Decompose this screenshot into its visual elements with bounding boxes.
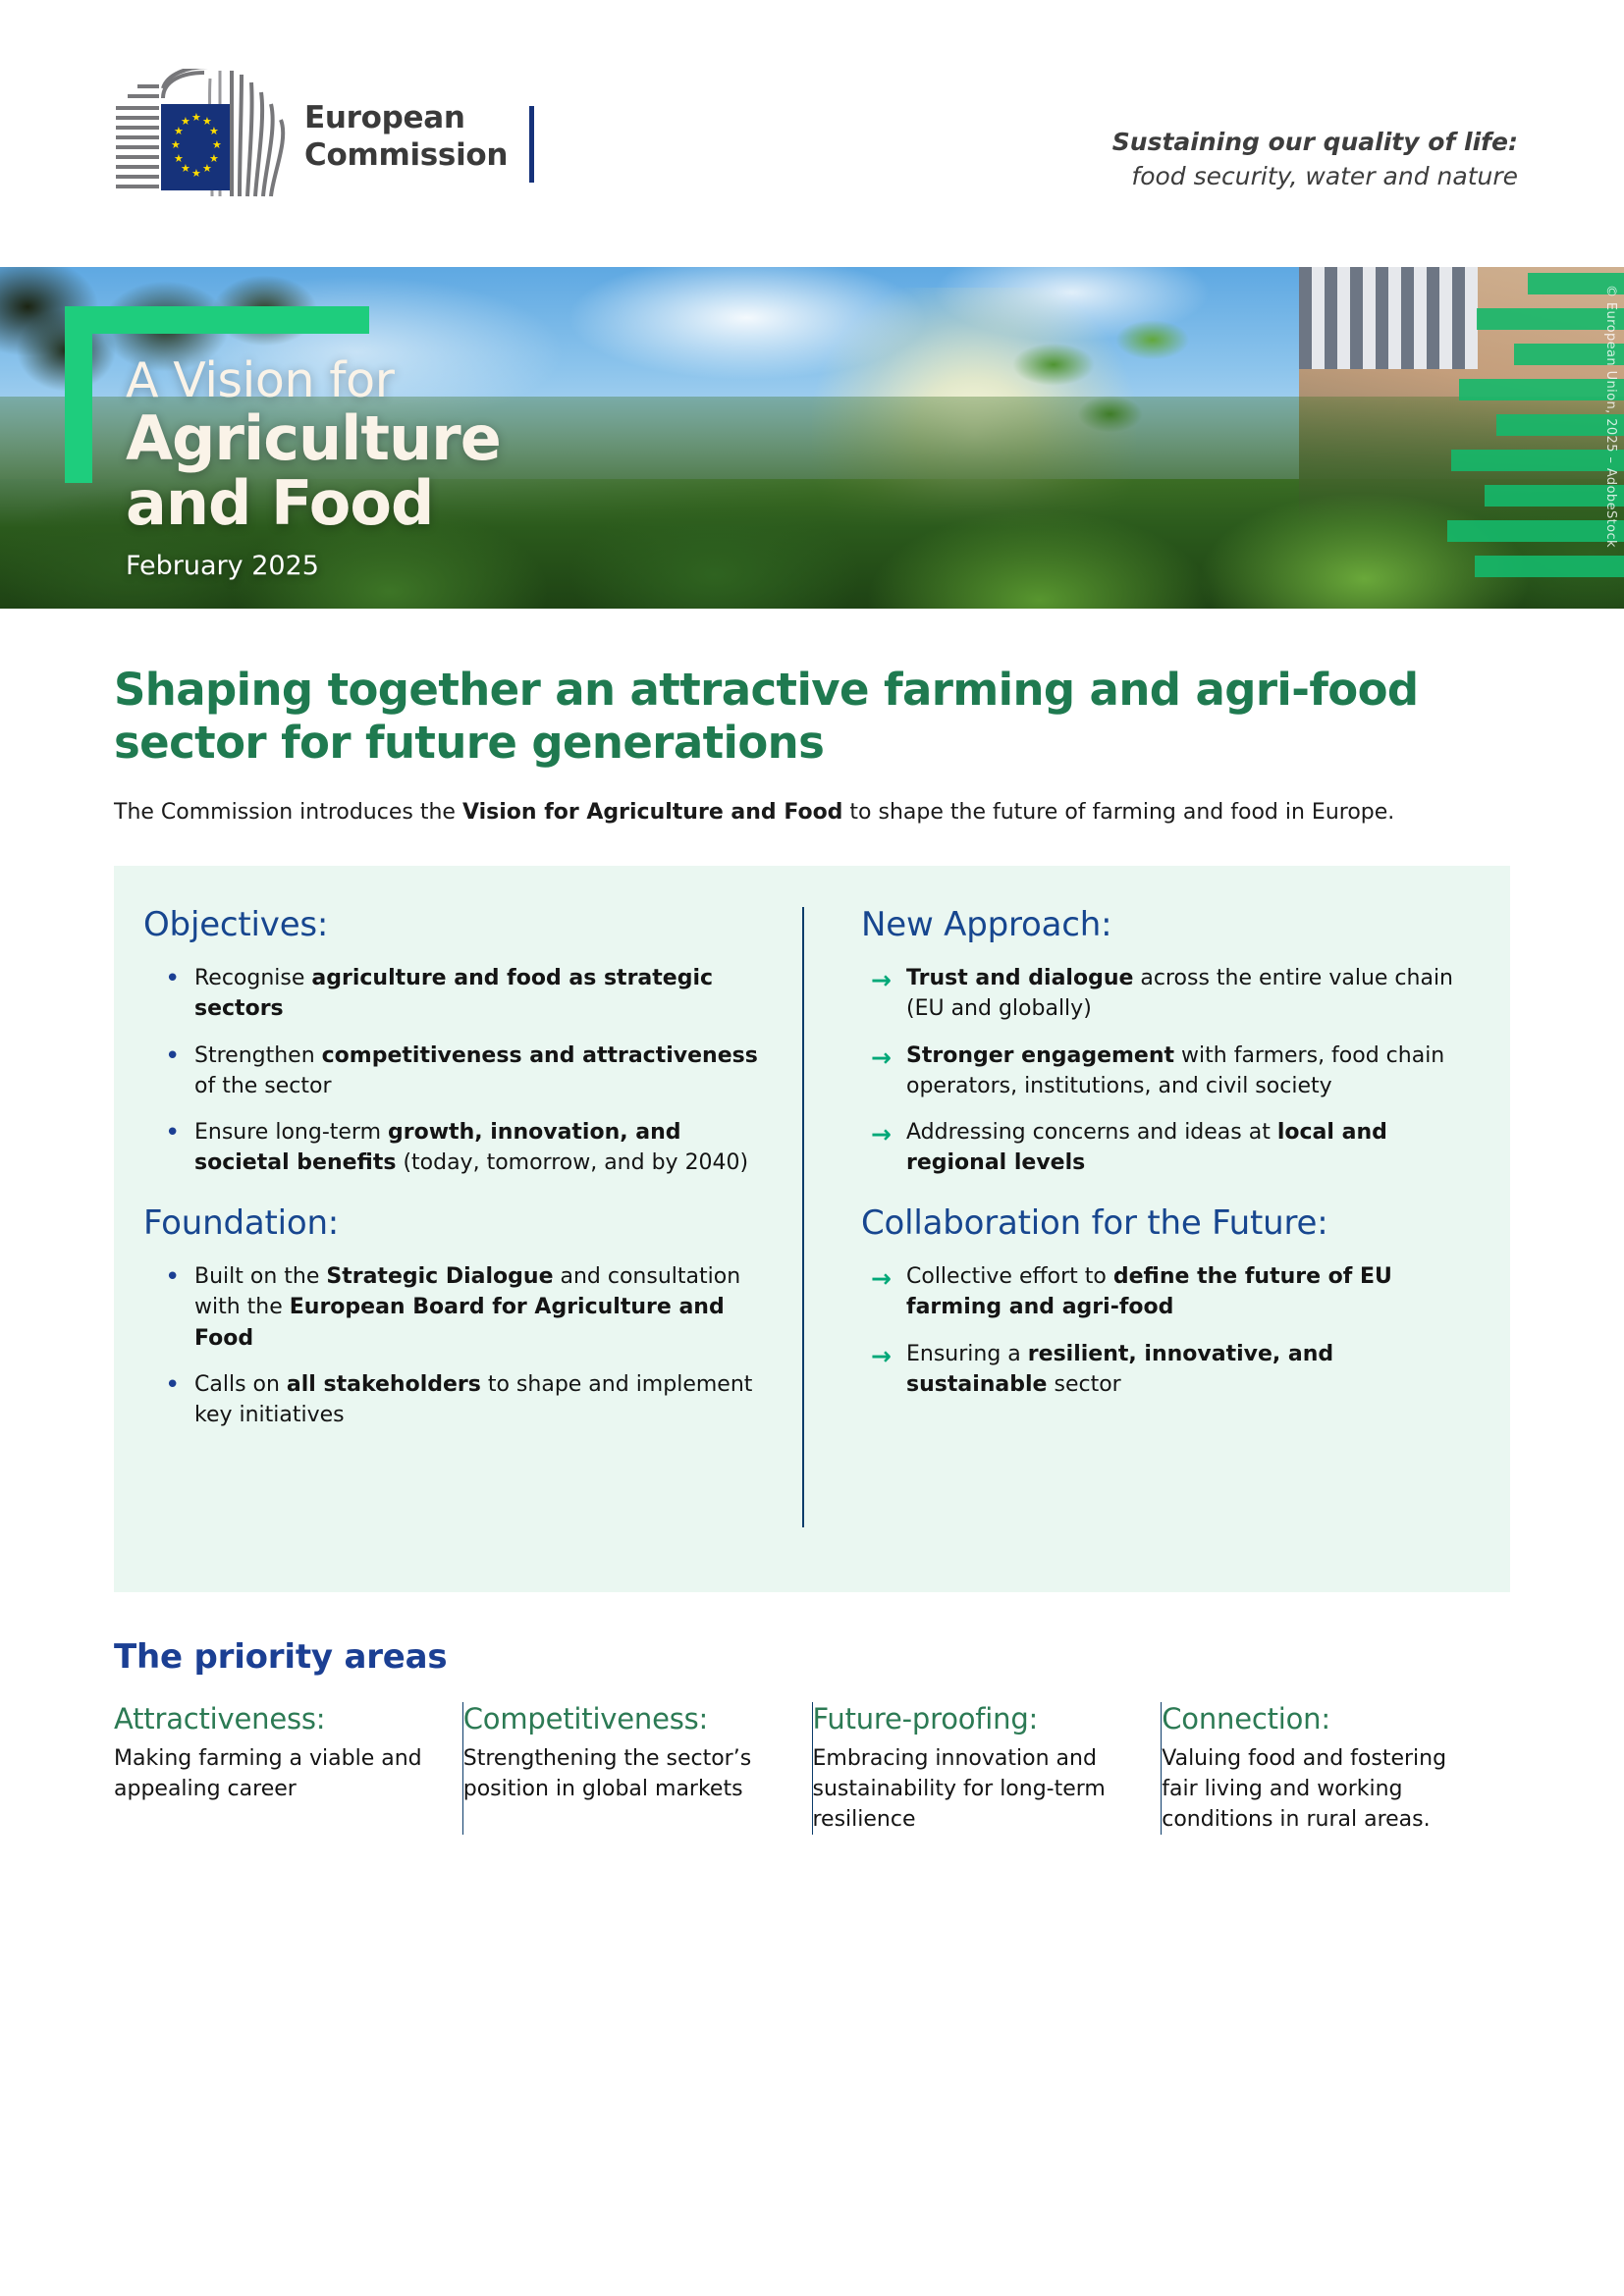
priority-column-title: Attractiveness:: [114, 1702, 429, 1736]
wordmark-line-commission: Commission: [304, 137, 508, 175]
priority-column: Competitiveness:Strengthening the sector…: [463, 1702, 812, 1835]
priority-column: Future-proofing:Embracing innovation and…: [813, 1702, 1162, 1835]
page-header: ★ ★ ★ ★ ★ ★ ★ ★ ★ ★ ★ ★ European Commiss…: [0, 0, 1624, 267]
hero-banner: A Vision for Agriculture and Food Februa…: [0, 267, 1624, 609]
hero-title-line-3: and Food: [126, 471, 501, 536]
list-item: Stronger engagement with farmers, food c…: [861, 1041, 1477, 1101]
intro-text-after: to shape the future of farming and food …: [842, 800, 1394, 825]
priority-column: Connection:Valuing food and fostering fa…: [1162, 1702, 1510, 1835]
section-list: Built on the Strategic Dialogue and cons…: [143, 1261, 759, 1430]
eu-flag: ★ ★ ★ ★ ★ ★ ★ ★ ★ ★ ★ ★: [161, 104, 230, 190]
hero-title-line-1: A Vision for: [126, 355, 501, 406]
section-list: Trust and dialogue across the entire val…: [861, 963, 1477, 1178]
intro-text-before: The Commission introduces the: [114, 800, 462, 825]
eu-emblem: ★ ★ ★ ★ ★ ★ ★ ★ ★ ★ ★ ★: [114, 69, 300, 206]
main-content: Shaping together an attractive farming a…: [0, 664, 1624, 1835]
section-title: New Approach:: [861, 905, 1477, 945]
section-title: Collaboration for the Future:: [861, 1203, 1477, 1244]
hero-date: February 2025: [126, 551, 319, 581]
priority-column-title: Future-proofing:: [813, 1702, 1128, 1736]
priority-column-title: Competitiveness:: [463, 1702, 779, 1736]
hero-image-credit: © European Union, 2025 – AdobeStock: [1603, 285, 1618, 548]
priority-column-body: Making farming a viable and appealing ca…: [114, 1744, 429, 1805]
logo-blue-bar: [529, 106, 534, 183]
list-item: Ensuring a resilient, innovative, and su…: [861, 1339, 1477, 1400]
page-title: Shaping together an attractive farming a…: [114, 664, 1510, 770]
commission-wordmark: European Commission: [304, 100, 508, 175]
feature-box: Objectives:Recognise agriculture and foo…: [114, 866, 1510, 1592]
list-item: Collective effort to define the future o…: [861, 1261, 1477, 1322]
feature-column-left: Objectives:Recognise agriculture and foo…: [114, 889, 802, 1541]
hero-title-line-2: Agriculture: [126, 406, 501, 471]
intro-paragraph: The Commission introduces the Vision for…: [114, 797, 1510, 828]
priority-column-body: Embracing innovation and sustainability …: [813, 1744, 1128, 1835]
list-item: Addressing concerns and ideas at local a…: [861, 1117, 1477, 1178]
priority-column-title: Connection:: [1162, 1702, 1477, 1736]
section-list: Recognise agriculture and food as strate…: [143, 963, 759, 1178]
hero-title: A Vision for Agriculture and Food: [126, 355, 501, 535]
priority-column-body: Valuing food and fostering fair living a…: [1162, 1744, 1477, 1835]
wordmark-line-european: European: [304, 100, 508, 137]
list-item: Trust and dialogue across the entire val…: [861, 963, 1477, 1024]
priority-columns: Attractiveness:Making farming a viable a…: [114, 1702, 1510, 1835]
priority-areas-heading: The priority areas: [114, 1637, 1510, 1677]
section-title: Objectives:: [143, 905, 759, 945]
section-title: Foundation:: [143, 1203, 759, 1244]
section-list: Collective effort to define the future o…: [861, 1261, 1477, 1400]
list-item: Recognise agriculture and food as strate…: [143, 963, 759, 1024]
priority-areas-section: The priority areas Attractiveness:Making…: [114, 1637, 1510, 1835]
intro-text-bold: Vision for Agriculture and Food: [462, 800, 843, 825]
header-tagline: Sustaining our quality of life: food sec…: [1112, 126, 1518, 193]
feature-column-right: New Approach:Trust and dialogue across t…: [804, 889, 1510, 1541]
hero-plaid-sleeve: [1299, 267, 1478, 369]
list-item: Strengthen competitiveness and attractiv…: [143, 1041, 759, 1101]
priority-column: Attractiveness:Making farming a viable a…: [114, 1702, 462, 1835]
priority-column-body: Strengthening the sector’s position in g…: [463, 1744, 779, 1805]
tagline-line-2: food security, water and nature: [1112, 160, 1518, 194]
list-item: Ensure long-term growth, innovation, and…: [143, 1117, 759, 1178]
tagline-line-1: Sustaining our quality of life:: [1112, 126, 1518, 160]
list-item: Built on the Strategic Dialogue and cons…: [143, 1261, 759, 1354]
list-item: Calls on all stakeholders to shape and i…: [143, 1369, 759, 1430]
european-commission-logo: ★ ★ ★ ★ ★ ★ ★ ★ ★ ★ ★ ★ European Commiss…: [114, 69, 534, 206]
